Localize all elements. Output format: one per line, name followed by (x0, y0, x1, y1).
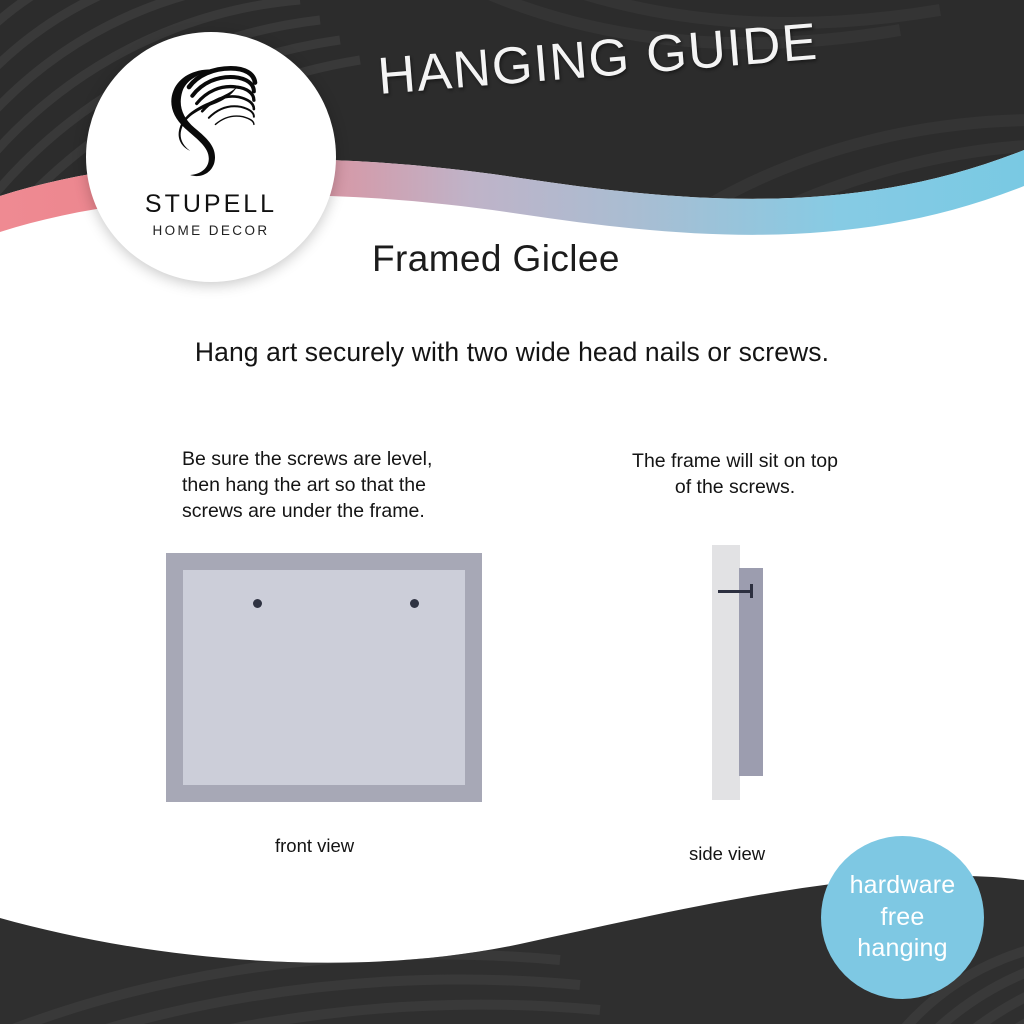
side-caption-line-2: of the screws. (582, 474, 888, 500)
badge-line-2: free (881, 902, 925, 934)
badge-line-1: hardware (850, 870, 956, 902)
side-caption-line-1: The frame will sit on top (582, 448, 888, 474)
front-view-caption: Be sure the screws are level, then hang … (150, 446, 520, 524)
hardware-free-hanging-badge: hardware free hanging (821, 836, 984, 999)
brand-logo-badge: STUPELL HOME DECOR (86, 32, 336, 282)
front-view-label: front view (275, 835, 354, 857)
side-view-frame (739, 568, 763, 776)
front-view-column: Be sure the screws are level, then hang … (150, 446, 520, 524)
screw-dot-left (253, 599, 262, 608)
side-view-wall (712, 545, 740, 800)
side-view-screw-shaft (718, 590, 753, 593)
product-type-label: Framed Giclee (372, 238, 620, 280)
side-view-screw-head (750, 584, 753, 598)
badge-line-3: hanging (857, 933, 947, 965)
brand-tagline: HOME DECOR (152, 223, 269, 238)
front-caption-line-1: Be sure the screws are level, (182, 446, 520, 472)
stupell-swoosh-logo-icon (145, 54, 277, 186)
side-view-column: The frame will sit on top of the screws. (582, 448, 888, 500)
screw-dot-right (410, 599, 419, 608)
front-view-frame-interior (183, 570, 465, 785)
page-title: HANGING GUIDE (376, 12, 821, 107)
brand-name: STUPELL (145, 190, 277, 219)
hanging-guide-page: STUPELL HOME DECOR HANGING GUIDE Framed … (0, 0, 1024, 1024)
front-caption-line-3: screws are under the frame. (182, 498, 520, 524)
side-view-label: side view (689, 843, 765, 865)
lead-instruction: Hang art securely with two wide head nai… (0, 337, 1024, 368)
front-caption-line-2: then hang the art so that the (182, 472, 520, 498)
front-view-frame-diagram (166, 553, 482, 802)
side-view-caption: The frame will sit on top of the screws. (582, 448, 888, 500)
